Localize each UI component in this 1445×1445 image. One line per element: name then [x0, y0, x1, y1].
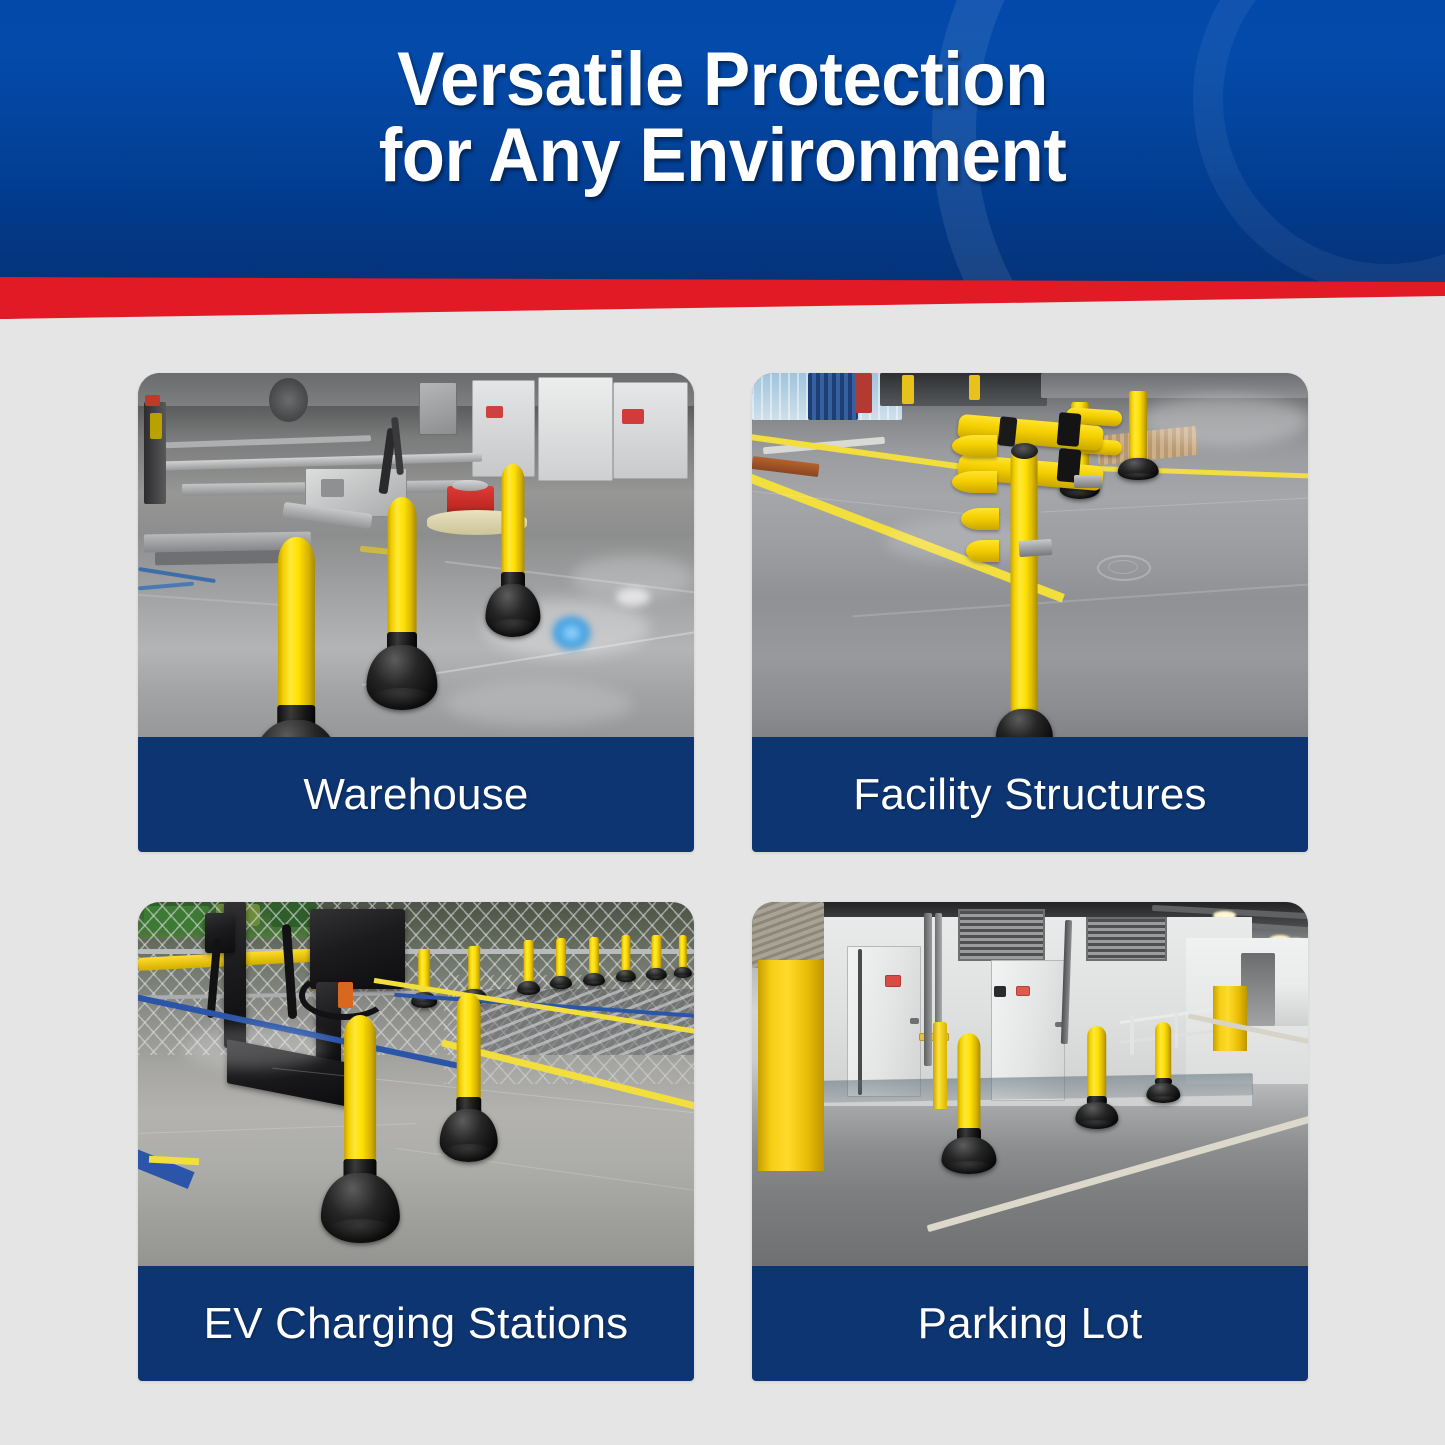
bollard	[1136, 1022, 1192, 1102]
card-caption-parking-lot: Parking Lot	[752, 1266, 1308, 1381]
bollard	[422, 993, 517, 1160]
bollard	[469, 464, 558, 635]
environment-card-grid: Warehouse	[138, 373, 1308, 1381]
bollard	[1061, 1026, 1133, 1128]
card-warehouse[interactable]: Warehouse	[138, 373, 694, 852]
column-guard	[758, 960, 825, 1171]
card-caption-ev-charging-stations: EV Charging Stations	[138, 1266, 694, 1381]
page-title: Versatile Protection for Any Environment	[51, 42, 1395, 194]
photo-ev-charging-stations	[138, 902, 694, 1266]
card-caption-facility-structures: Facility Structures	[752, 737, 1308, 852]
photo-warehouse	[138, 373, 694, 737]
card-parking-lot[interactable]: Parking Lot	[752, 902, 1308, 1381]
bollard	[299, 1015, 421, 1241]
card-caption-warehouse: Warehouse	[138, 737, 694, 852]
photo-parking-lot	[752, 902, 1308, 1266]
column-guard	[1213, 986, 1246, 1052]
card-ev-charging-stations[interactable]: EV Charging Stations	[138, 902, 694, 1381]
bollard-foreground	[963, 424, 1085, 737]
bollard	[227, 537, 366, 737]
photo-facility-structures	[752, 373, 1308, 737]
card-facility-structures[interactable]: Facility Structures	[752, 373, 1308, 852]
